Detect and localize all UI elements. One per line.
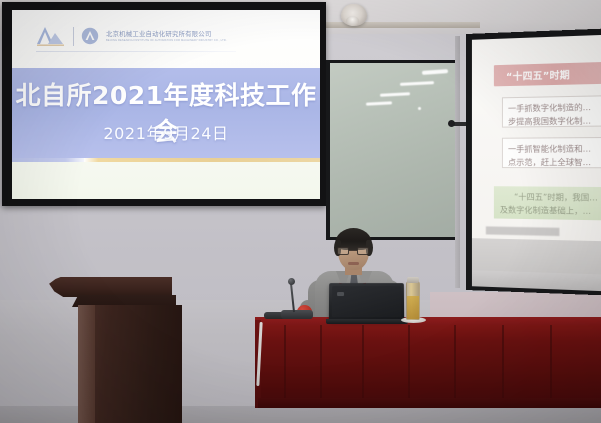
left-slide: 北京机械工业自动化研究所有限公司 BEIJING RESEARCH INSTIT…	[12, 10, 320, 199]
left-screen-surface: 北京机械工业自动化研究所有限公司 BEIJING RESEARCH INSTIT…	[12, 10, 320, 199]
right-slide-highlight-box: “十四五”时期，我国… 及数字化制造基础上，…	[494, 186, 601, 221]
right-slide-title: “十四五”时期	[506, 67, 570, 83]
right-slide-text-box: 一手抓数字化制造的… 步提高我国数字化制…	[502, 94, 601, 127]
slide-date: 2021年9月24日	[12, 120, 320, 144]
logo-org-en: BEIJING RESEARCH INSTITUTE OF AUTOMATION…	[106, 39, 227, 43]
mountain-triangle-logo	[36, 25, 66, 47]
left-projection-screen: 北京机械工业自动化研究所有限公司 BEIJING RESEARCH INSTIT…	[2, 2, 326, 206]
podium-top	[44, 277, 172, 297]
right-box1-line1: 一手抓数字化制造的…	[508, 100, 601, 116]
right-screen-surface: “十四五”时期 一手抓数字化制造的… 步提高我国数字化制… 一手抓智能化制造和……	[472, 34, 601, 275]
blackboard-surface	[330, 63, 456, 237]
laptop-brand-logo	[337, 292, 344, 296]
microphone-base	[281, 310, 313, 319]
board-glare	[366, 101, 392, 105]
right-slide-title-band: “十四五”时期	[494, 61, 601, 87]
blackboard-frame	[326, 60, 460, 240]
shield-logo	[81, 27, 99, 45]
laptop-lid-back	[332, 286, 401, 317]
bottle-cap	[407, 277, 419, 283]
cloth-pleat	[408, 325, 410, 407]
cloth-pleat	[502, 325, 504, 407]
microphone-icon	[288, 278, 295, 285]
screen-mount-bracket	[448, 120, 455, 127]
right-projection-screen: “十四五”时期 一手抓数字化制造的… 步提高我国数字化制… 一手抓智能化制造和……	[466, 28, 601, 297]
right-box2-line1: 一手抓智能化制造和…	[508, 142, 601, 156]
cloth-pleat	[362, 325, 364, 407]
right-slide-footer	[486, 226, 560, 236]
table-front-edge	[258, 398, 601, 408]
logo-underline	[36, 51, 236, 52]
bottle-contents	[407, 296, 419, 319]
right-slide-base	[472, 238, 601, 275]
glasses-lens-right	[357, 247, 369, 255]
cloth-pleat	[320, 325, 322, 407]
cloth-pleat	[550, 325, 552, 407]
table-cloth	[258, 325, 601, 407]
board-glare-dot	[418, 107, 421, 110]
right-slide-text-box: 一手抓智能化制造和… 点示范，赶上全球智…	[502, 137, 601, 169]
cloth-pleat	[284, 325, 286, 407]
presenter-mouth	[348, 262, 359, 265]
conference-room-screenshot: 北京机械工业自动化研究所有限公司 BEIJING RESEARCH INSTIT…	[0, 0, 601, 423]
glasses-lens-left	[337, 247, 349, 255]
speaker-podium	[78, 305, 182, 423]
accent-bar-left	[12, 158, 88, 162]
logo-divider	[73, 27, 74, 46]
ceiling-light-icon	[341, 4, 367, 26]
logo-text-block: 北京机械工业自动化研究所有限公司 BEIJING RESEARCH INSTIT…	[106, 29, 227, 43]
glasses-icon	[337, 247, 370, 255]
laptop-base	[326, 319, 408, 324]
accent-bar-gold	[84, 158, 320, 162]
board-glare	[380, 92, 410, 97]
wall-corner-edge	[455, 36, 460, 288]
cloth-pleat	[454, 325, 456, 407]
slide-logo-row: 北京机械工业自动化研究所有限公司 BEIJING RESEARCH INSTIT…	[36, 23, 227, 49]
right-screen-lower-shadow	[472, 270, 601, 292]
board-glare	[422, 69, 448, 75]
right-box1-line2: 步提高我国数字化制…	[508, 114, 601, 129]
logo-org-cn: 北京机械工业自动化研究所有限公司	[106, 29, 227, 38]
board-glare	[400, 81, 434, 86]
right-slide: “十四五”时期 一手抓数字化制造的… 步提高我国数字化制… 一手抓智能化制造和……	[472, 34, 601, 275]
laptop-icon	[329, 283, 404, 321]
right-highlight-line2: 及数字化制造基础上，…	[500, 203, 601, 219]
glasses-bridge	[349, 250, 357, 251]
right-box2-line2: 点示范，赶上全球智…	[508, 156, 601, 170]
